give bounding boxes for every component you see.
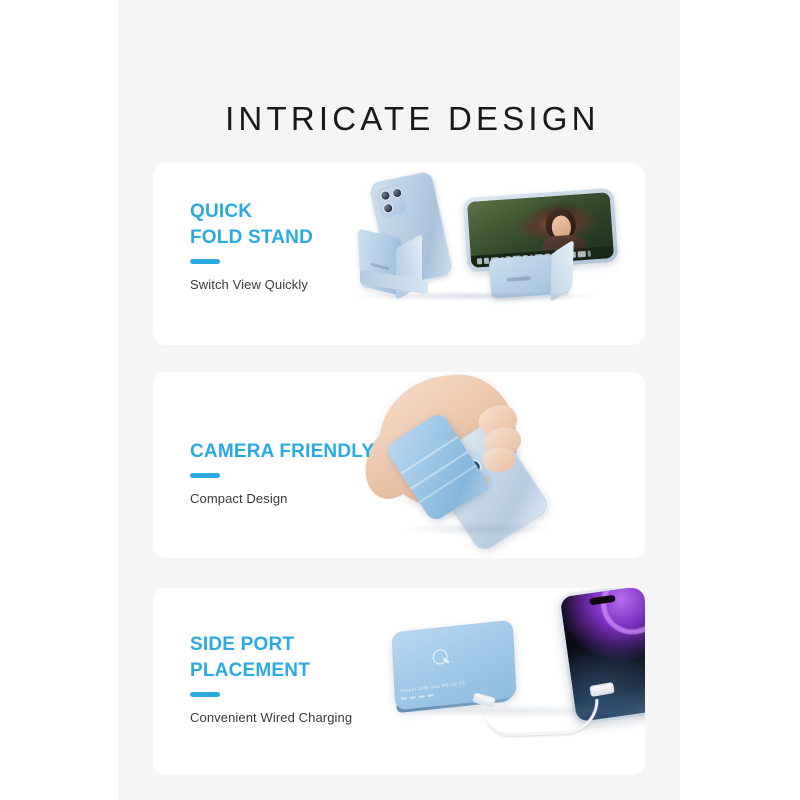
camera-lens-icon <box>380 190 392 202</box>
feature-title: CAMERA FRIENDLY <box>190 439 374 465</box>
battery-level-indicator <box>401 694 434 699</box>
led-segment <box>428 694 434 697</box>
caption-glyph <box>578 251 586 258</box>
brand-logo-icon <box>432 649 448 666</box>
feature-text-block: CAMERA FRIENDLY Compact Design <box>190 439 374 507</box>
page-title-line-1: INTRICATE DESIGN <box>225 100 600 137</box>
title-underline-rule <box>190 259 220 264</box>
feature-card-camera-friendly[interactable]: CAMERA FRIENDLY Compact Design <box>153 372 645 558</box>
feature-subtitle: Convenient Wired Charging <box>190 709 352 726</box>
power-bank-spec-label: Output 10W max PD CE FC <box>400 680 466 693</box>
product-shadow <box>403 522 553 536</box>
feature-text-block: QUICK FOLD STAND Switch View Quickly <box>190 199 313 293</box>
feature-subtitle: Switch View Quickly <box>190 276 313 293</box>
camera-lens-icon <box>391 187 403 199</box>
product-shadow <box>389 704 639 718</box>
feature-subtitle: Compact Design <box>190 490 374 507</box>
led-segment <box>410 696 416 699</box>
power-bank-body: Output 10W max PD CE FC <box>391 620 516 711</box>
camera-module-icon <box>376 184 409 219</box>
caption-glyph <box>588 251 591 257</box>
feature-text-block: SIDE PORT PLACEMENT Convenient Wired Cha… <box>190 632 352 726</box>
product-shadow <box>349 291 599 301</box>
caption-glyph <box>477 258 482 264</box>
feature-card-side-port-placement[interactable]: Output 10W max PD CE FC SIDE PORT PLACEM… <box>153 588 645 775</box>
title-underline-rule <box>190 692 220 697</box>
feature-title: SIDE PORT PLACEMENT <box>190 632 352 684</box>
led-segment <box>419 695 425 698</box>
title-underline-rule <box>190 473 220 478</box>
camera-lens-icon <box>382 202 394 214</box>
feature-title: QUICK FOLD STAND <box>190 199 313 251</box>
feature-card-quick-fold-stand[interactable]: QUICK FOLD STAND Switch View Quickly <box>153 163 645 345</box>
led-segment <box>401 697 407 700</box>
